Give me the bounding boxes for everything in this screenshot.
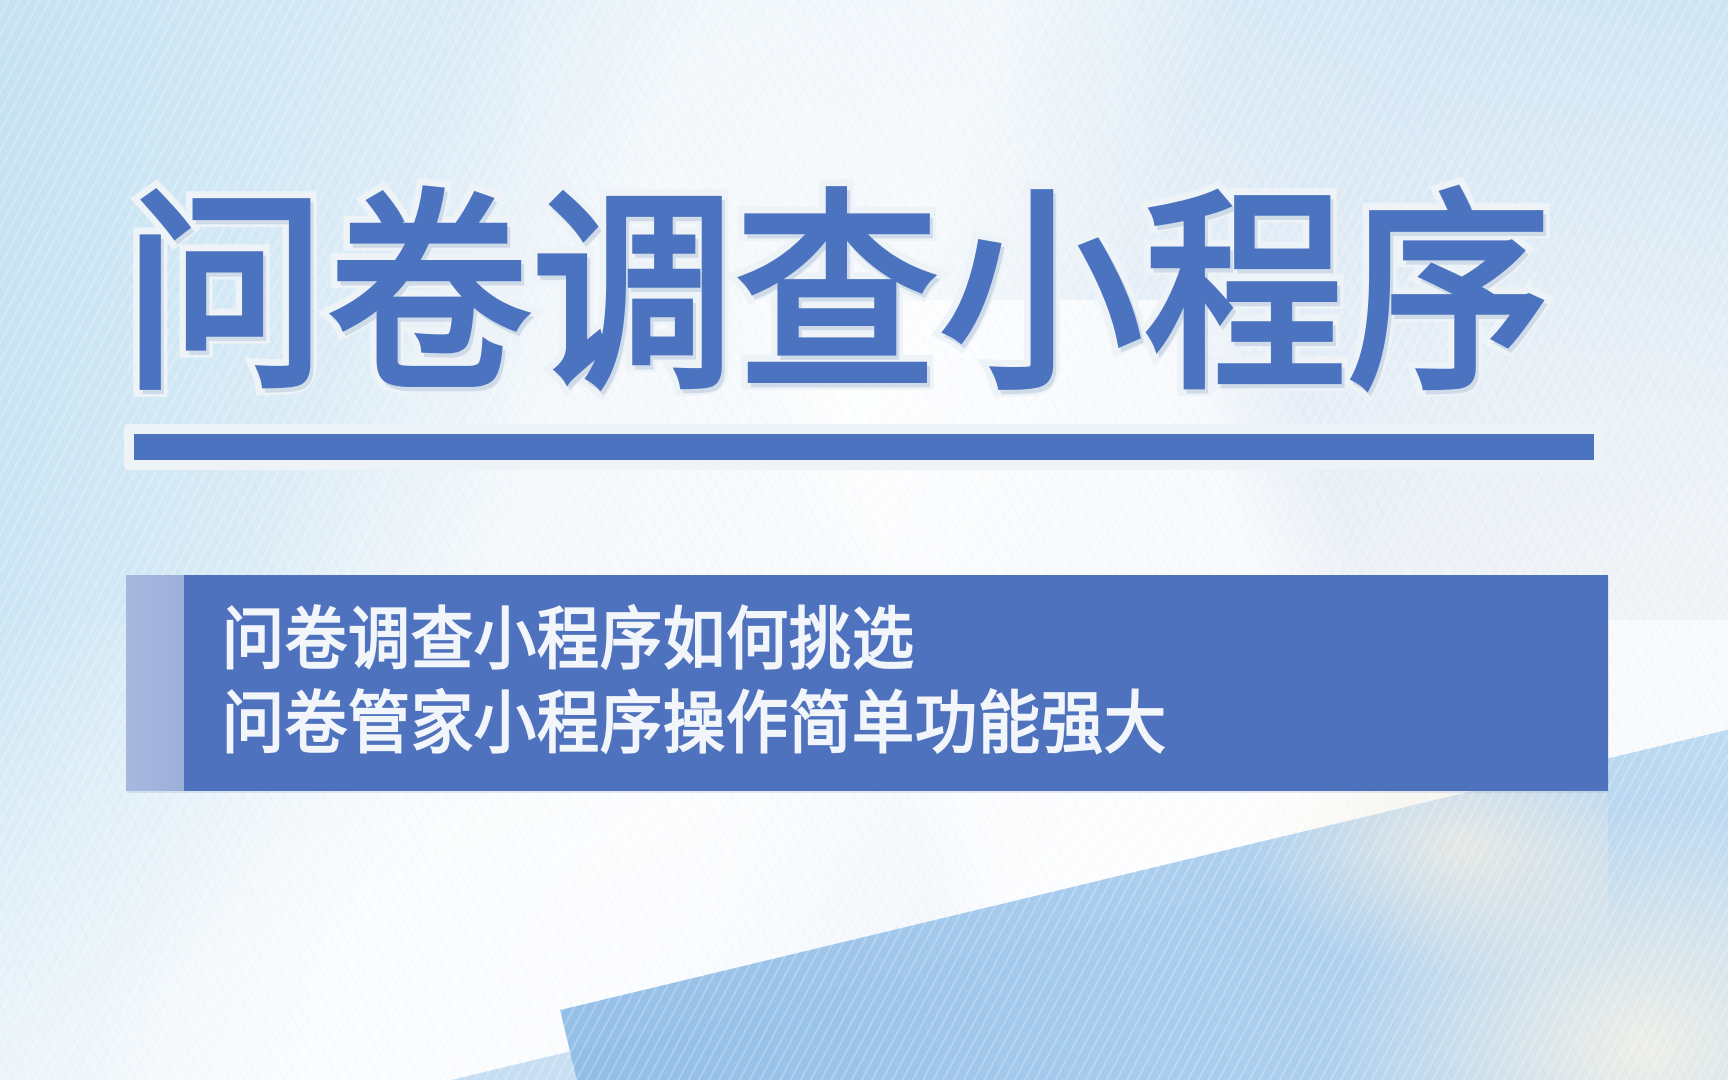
title-divider (124, 424, 1604, 470)
subtitle-banner: 问卷调查小程序如何挑选 问卷管家小程序操作简单功能强大 (126, 575, 1608, 791)
subtitle-text-block: 问卷调查小程序如何挑选 问卷管家小程序操作简单功能强大 (184, 575, 1608, 791)
subtitle-line-1: 问卷调查小程序如何挑选 (222, 595, 1608, 687)
poster-canvas: 问卷调查小程序 问卷调查小程序如何挑选 问卷管家小程序操作简单功能强大 (0, 0, 1728, 1080)
subtitle-line-2: 问卷管家小程序操作简单功能强大 (222, 679, 1608, 771)
subtitle-accent-bar (126, 575, 184, 791)
poster-content: 问卷调查小程序 问卷调查小程序如何挑选 问卷管家小程序操作简单功能强大 (0, 0, 1728, 1080)
title-divider-bar (134, 434, 1594, 460)
page-title: 问卷调查小程序 (124, 186, 1594, 404)
